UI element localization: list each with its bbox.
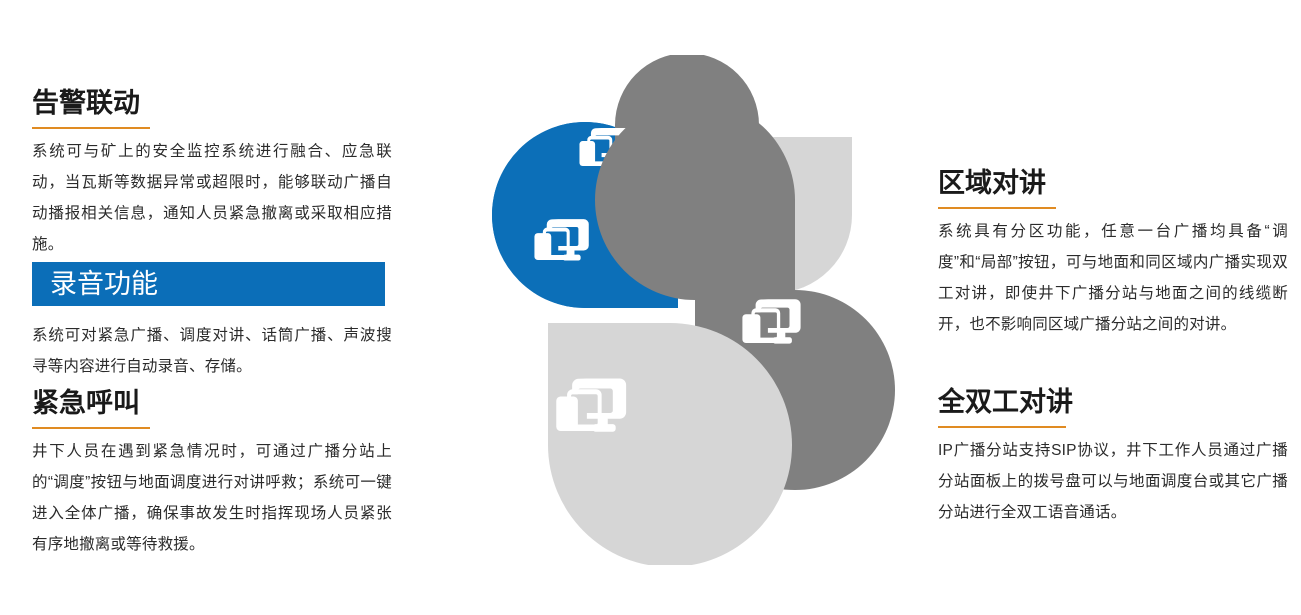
feature-title-zone-intercom: 区域对讲 [938,168,1288,198]
title-underline-rule [32,427,150,429]
feature-block-emergency-call: 紧急呼叫 井下人员在遇到紧急情况时，可通过广播分站上的“调度”按钮与地面调度进行… [32,388,392,560]
title-underline-rule [938,207,1056,209]
feature-block-recording-function: 录音功能 系统可对紧急广播、调度对讲、话筒广播、声波搜寻等内容进行自动录音、存储… [32,262,392,382]
feature-body-alarm-linkage: 系统可与矿上的安全监控系统进行融合、应急联动，当瓦斯等数据异常或超限时，能够联动… [32,136,392,260]
feature-body-full-duplex-intercom: IP广播分站支持SIP协议，井下工作人员通过广播分站面板上的拨号盘可以与地面调度… [938,435,1288,528]
four-node-device-diagram [425,55,935,565]
left-feature-column: 告警联动 系统可与矿上的安全监控系统进行融合、应急联动，当瓦斯等数据异常或超限时… [32,0,392,615]
feature-body-zone-intercom: 系统具有分区功能，任意一台广播均具备“调度”和“局部”按钮，可与地面和同区域内广… [938,216,1288,340]
feature-block-zone-intercom: 区域对讲 系统具有分区功能，任意一台广播均具备“调度”和“局部”按钮，可与地面和… [938,168,1288,340]
feature-title-full-duplex-intercom: 全双工对讲 [938,387,1288,417]
feature-title-emergency-call: 紧急呼叫 [32,388,392,418]
feature-block-alarm-linkage: 告警联动 系统可与矿上的安全监控系统进行融合、应急联动，当瓦斯等数据异常或超限时… [32,88,392,260]
feature-title-alarm-linkage: 告警联动 [32,88,392,118]
right-feature-column: 区域对讲 系统具有分区功能，任意一台广播均具备“调度”和“局部”按钮，可与地面和… [938,0,1288,615]
title-underline-rule [32,127,150,129]
feature-body-emergency-call: 井下人员在遇到紧急情况时，可通过广播分站上的“调度”按钮与地面调度进行对讲呼救；… [32,436,392,560]
feature-body-recording-function: 系统可对紧急广播、调度对讲、话筒广播、声波搜寻等内容进行自动录音、存储。 [32,320,392,382]
feature-block-full-duplex-intercom: 全双工对讲 IP广播分站支持SIP协议，井下工作人员通过广播分站面板上的拨号盘可… [938,387,1288,528]
diagram-node-light-gray-lower [548,323,792,565]
title-underline-rule [938,426,1066,428]
slide-canvas: 告警联动 系统可与矿上的安全监控系统进行融合、应急联动，当瓦斯等数据异常或超限时… [0,0,1301,615]
feature-title-recording-function: 录音功能 [32,262,385,306]
